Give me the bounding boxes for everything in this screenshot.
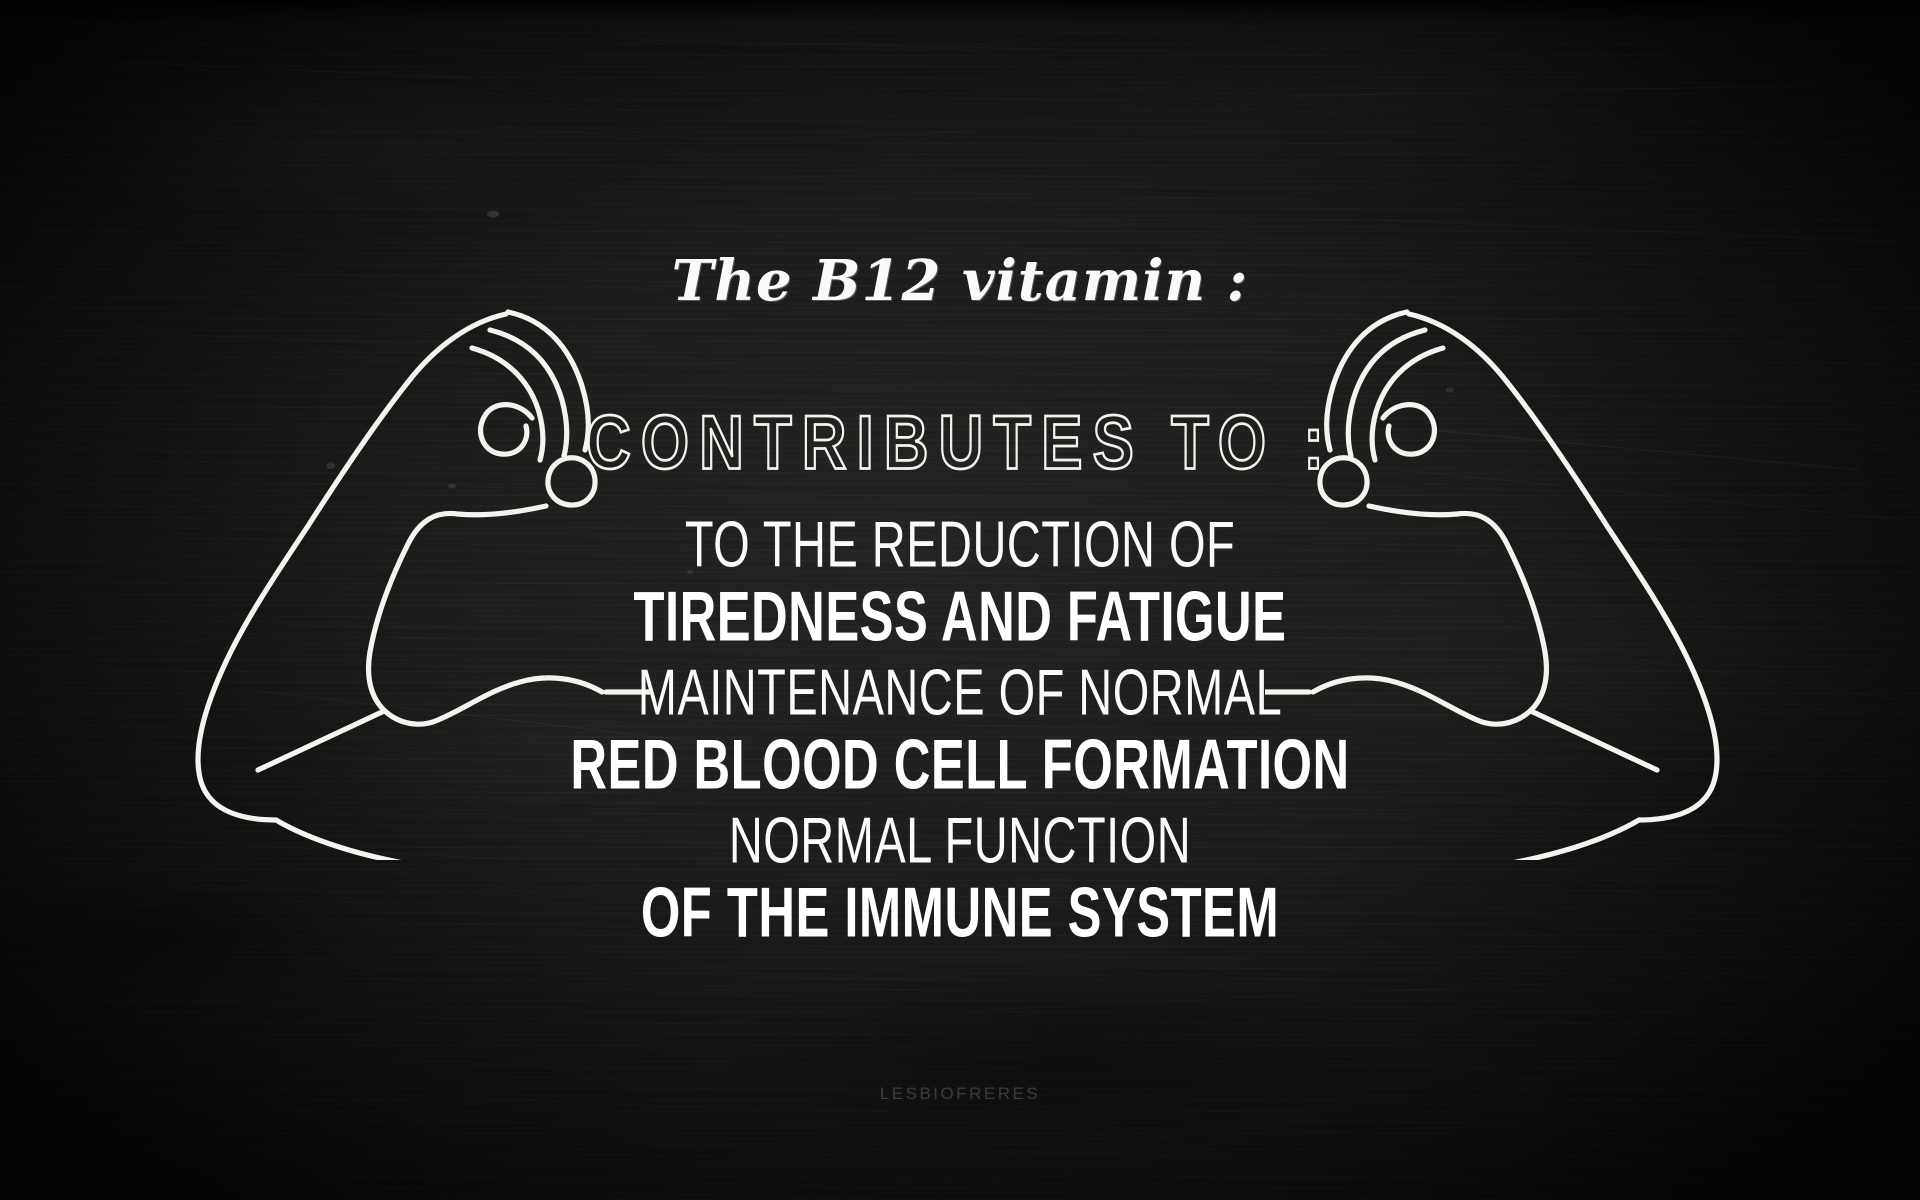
- benefit-1-line-bottom: TIREDNESS AND FATIGUE: [58, 582, 1863, 652]
- subtitle-contributes-to: CONTRIBUTES TO :: [0, 400, 1920, 487]
- background-top-edge: [0, 0, 1920, 26]
- benefit-item-2: MAINTENANCE OF NORMAL RED BLOOD CELL FOR…: [0, 660, 1920, 784]
- watermark-brand: LESBIOFRERES: [0, 1084, 1920, 1104]
- benefit-1-line-top: TO THE REDUCTION OF: [58, 512, 1863, 577]
- poster-canvas: The B12 vitamin : CONTRIBUTES TO : TO TH…: [0, 0, 1920, 1200]
- benefit-item-1: TO THE REDUCTION OF TIREDNESS AND FATIGU…: [0, 512, 1920, 636]
- page-title: The B12 vitamin :: [0, 248, 1920, 314]
- benefit-item-3: NORMAL FUNCTION OF THE IMMUNE SYSTEM: [0, 808, 1920, 932]
- benefit-2-line-bottom: RED BLOOD CELL FORMATION: [58, 730, 1863, 800]
- benefit-3-line-bottom: OF THE IMMUNE SYSTEM: [58, 878, 1863, 948]
- benefit-2-line-top: MAINTENANCE OF NORMAL: [58, 660, 1863, 725]
- benefit-3-line-top: NORMAL FUNCTION: [58, 808, 1863, 873]
